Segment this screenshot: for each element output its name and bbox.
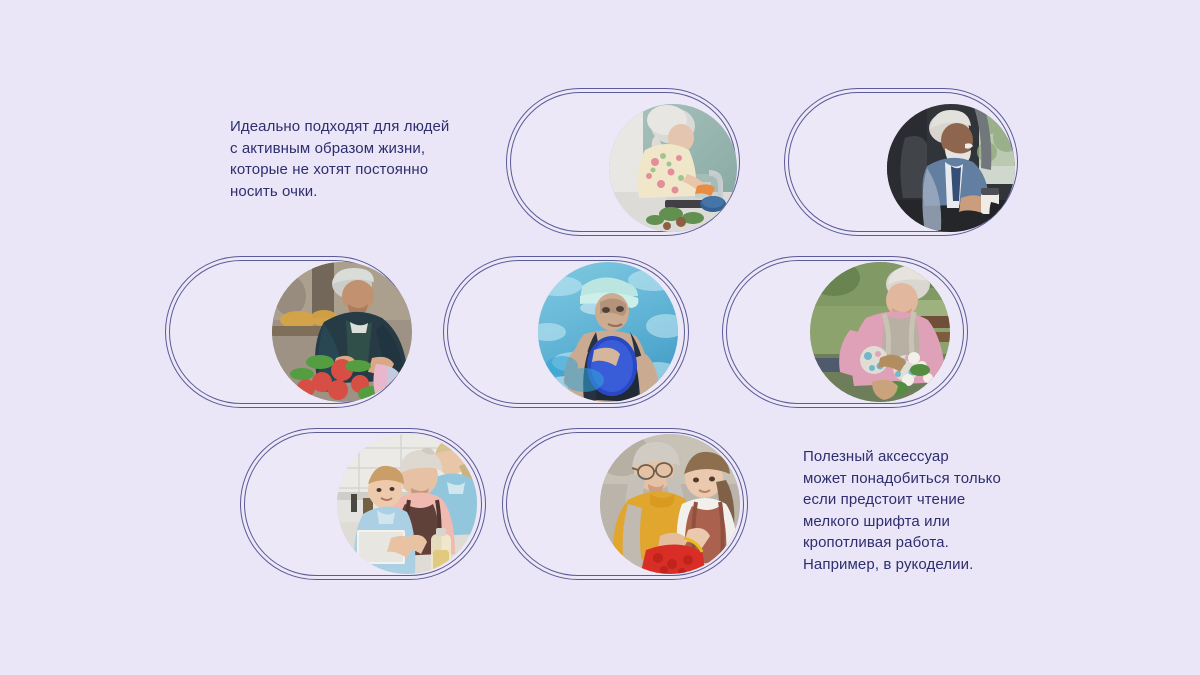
slide-canvas: Идеально подходят для людей с активным о…: [0, 0, 1200, 675]
photo-senior-woman-cooking-kitchen: [609, 104, 737, 232]
outro-paragraph: Полезный аксессуар может понадобиться то…: [803, 446, 1033, 575]
photo-senior-woman-swimming-pool: [538, 262, 678, 402]
photo-senior-man-shopping-market: [272, 262, 412, 402]
photo-senior-man-driving-car: [887, 104, 1015, 232]
intro-paragraph: Идеально подходят для людей с активным о…: [230, 116, 480, 202]
photo-senior-woman-gardening: [810, 262, 950, 402]
photo-grandmother-with-grandchildren-kitchen: [337, 434, 477, 574]
photo-grandmother-knitting-with-girl: [600, 434, 740, 574]
